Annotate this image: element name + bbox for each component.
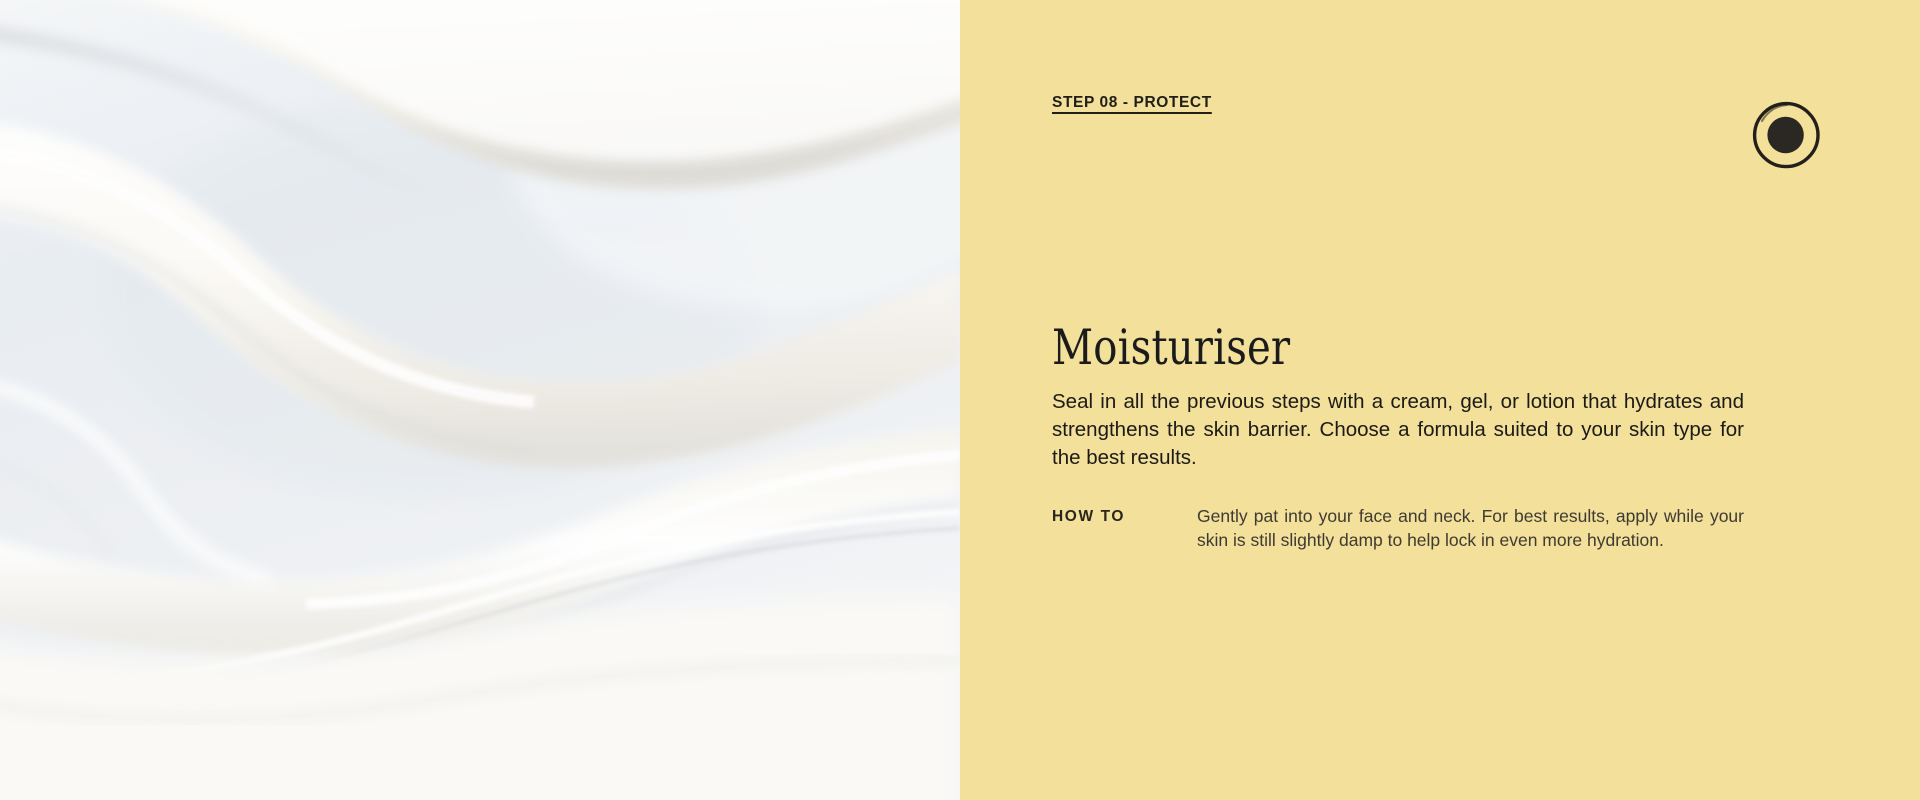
how-to-block: HOW TO Gently pat into your face and nec… xyxy=(1052,504,1744,552)
step-label[interactable]: STEP 08 - PROTECT xyxy=(1052,94,1212,112)
circle-dot-logo-icon[interactable] xyxy=(1750,99,1822,171)
step-info-panel: STEP 08 - PROTECT Moisturiser Seal in al… xyxy=(960,0,1920,800)
circle-dot-logo-glyph xyxy=(1750,99,1822,171)
step-description: Seal in all the previous steps with a cr… xyxy=(1052,388,1744,472)
page-title: Moisturiser xyxy=(1052,322,1290,375)
cream-texture-illustration xyxy=(0,0,960,800)
how-to-label: HOW TO xyxy=(1052,504,1197,526)
how-to-text: Gently pat into your face and neck. For … xyxy=(1197,504,1744,552)
cream-texture-photo xyxy=(0,0,960,800)
step-card-page: STEP 08 - PROTECT Moisturiser Seal in al… xyxy=(0,0,1920,800)
